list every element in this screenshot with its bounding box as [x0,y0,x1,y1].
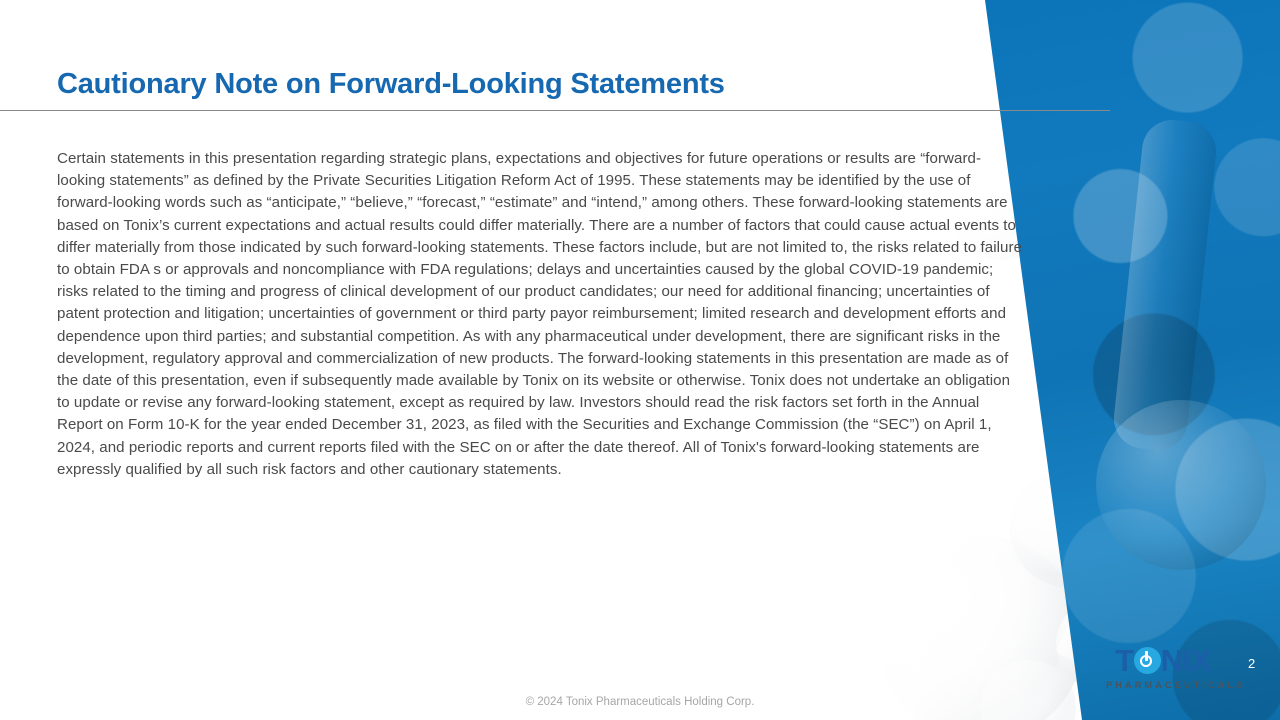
ghost-flask-neck [1030,277,1103,339]
ghost-bubble [1110,330,1176,396]
logo-letter-t: T [1115,645,1133,676]
logo-letters-nix: NIX [1161,645,1211,676]
ghost-bubble [1066,418,1124,476]
tonix-wordmark: T NIX [1103,645,1223,676]
disclaimer-body-text: Certain statements in this presentation … [57,148,1022,481]
tonix-tagline: PHARMACEUTICALS [1103,680,1223,690]
slide-cautionary-note: Cautionary Note on Forward-Looking State… [0,0,1280,720]
copyright-notice: © 2024 Tonix Pharmaceuticals Holding Cor… [0,696,1280,708]
page-number: 2 [1248,656,1255,671]
title-divider [0,110,1110,111]
ghost-bubble [1046,236,1120,310]
ghost-bubble [980,660,1076,720]
ghost-flask-bulb [878,536,1084,720]
ghost-bubble [1010,468,1130,588]
tonix-power-o-icon [1134,647,1161,674]
tonix-logo: T NIX PHARMACEUTICALS [1103,645,1223,690]
lab-tube-shape [1111,117,1219,453]
ghost-bubble [1128,12,1248,132]
page-title: Cautionary Note on Forward-Looking State… [57,68,725,101]
lab-bulb-shape [1096,400,1266,570]
